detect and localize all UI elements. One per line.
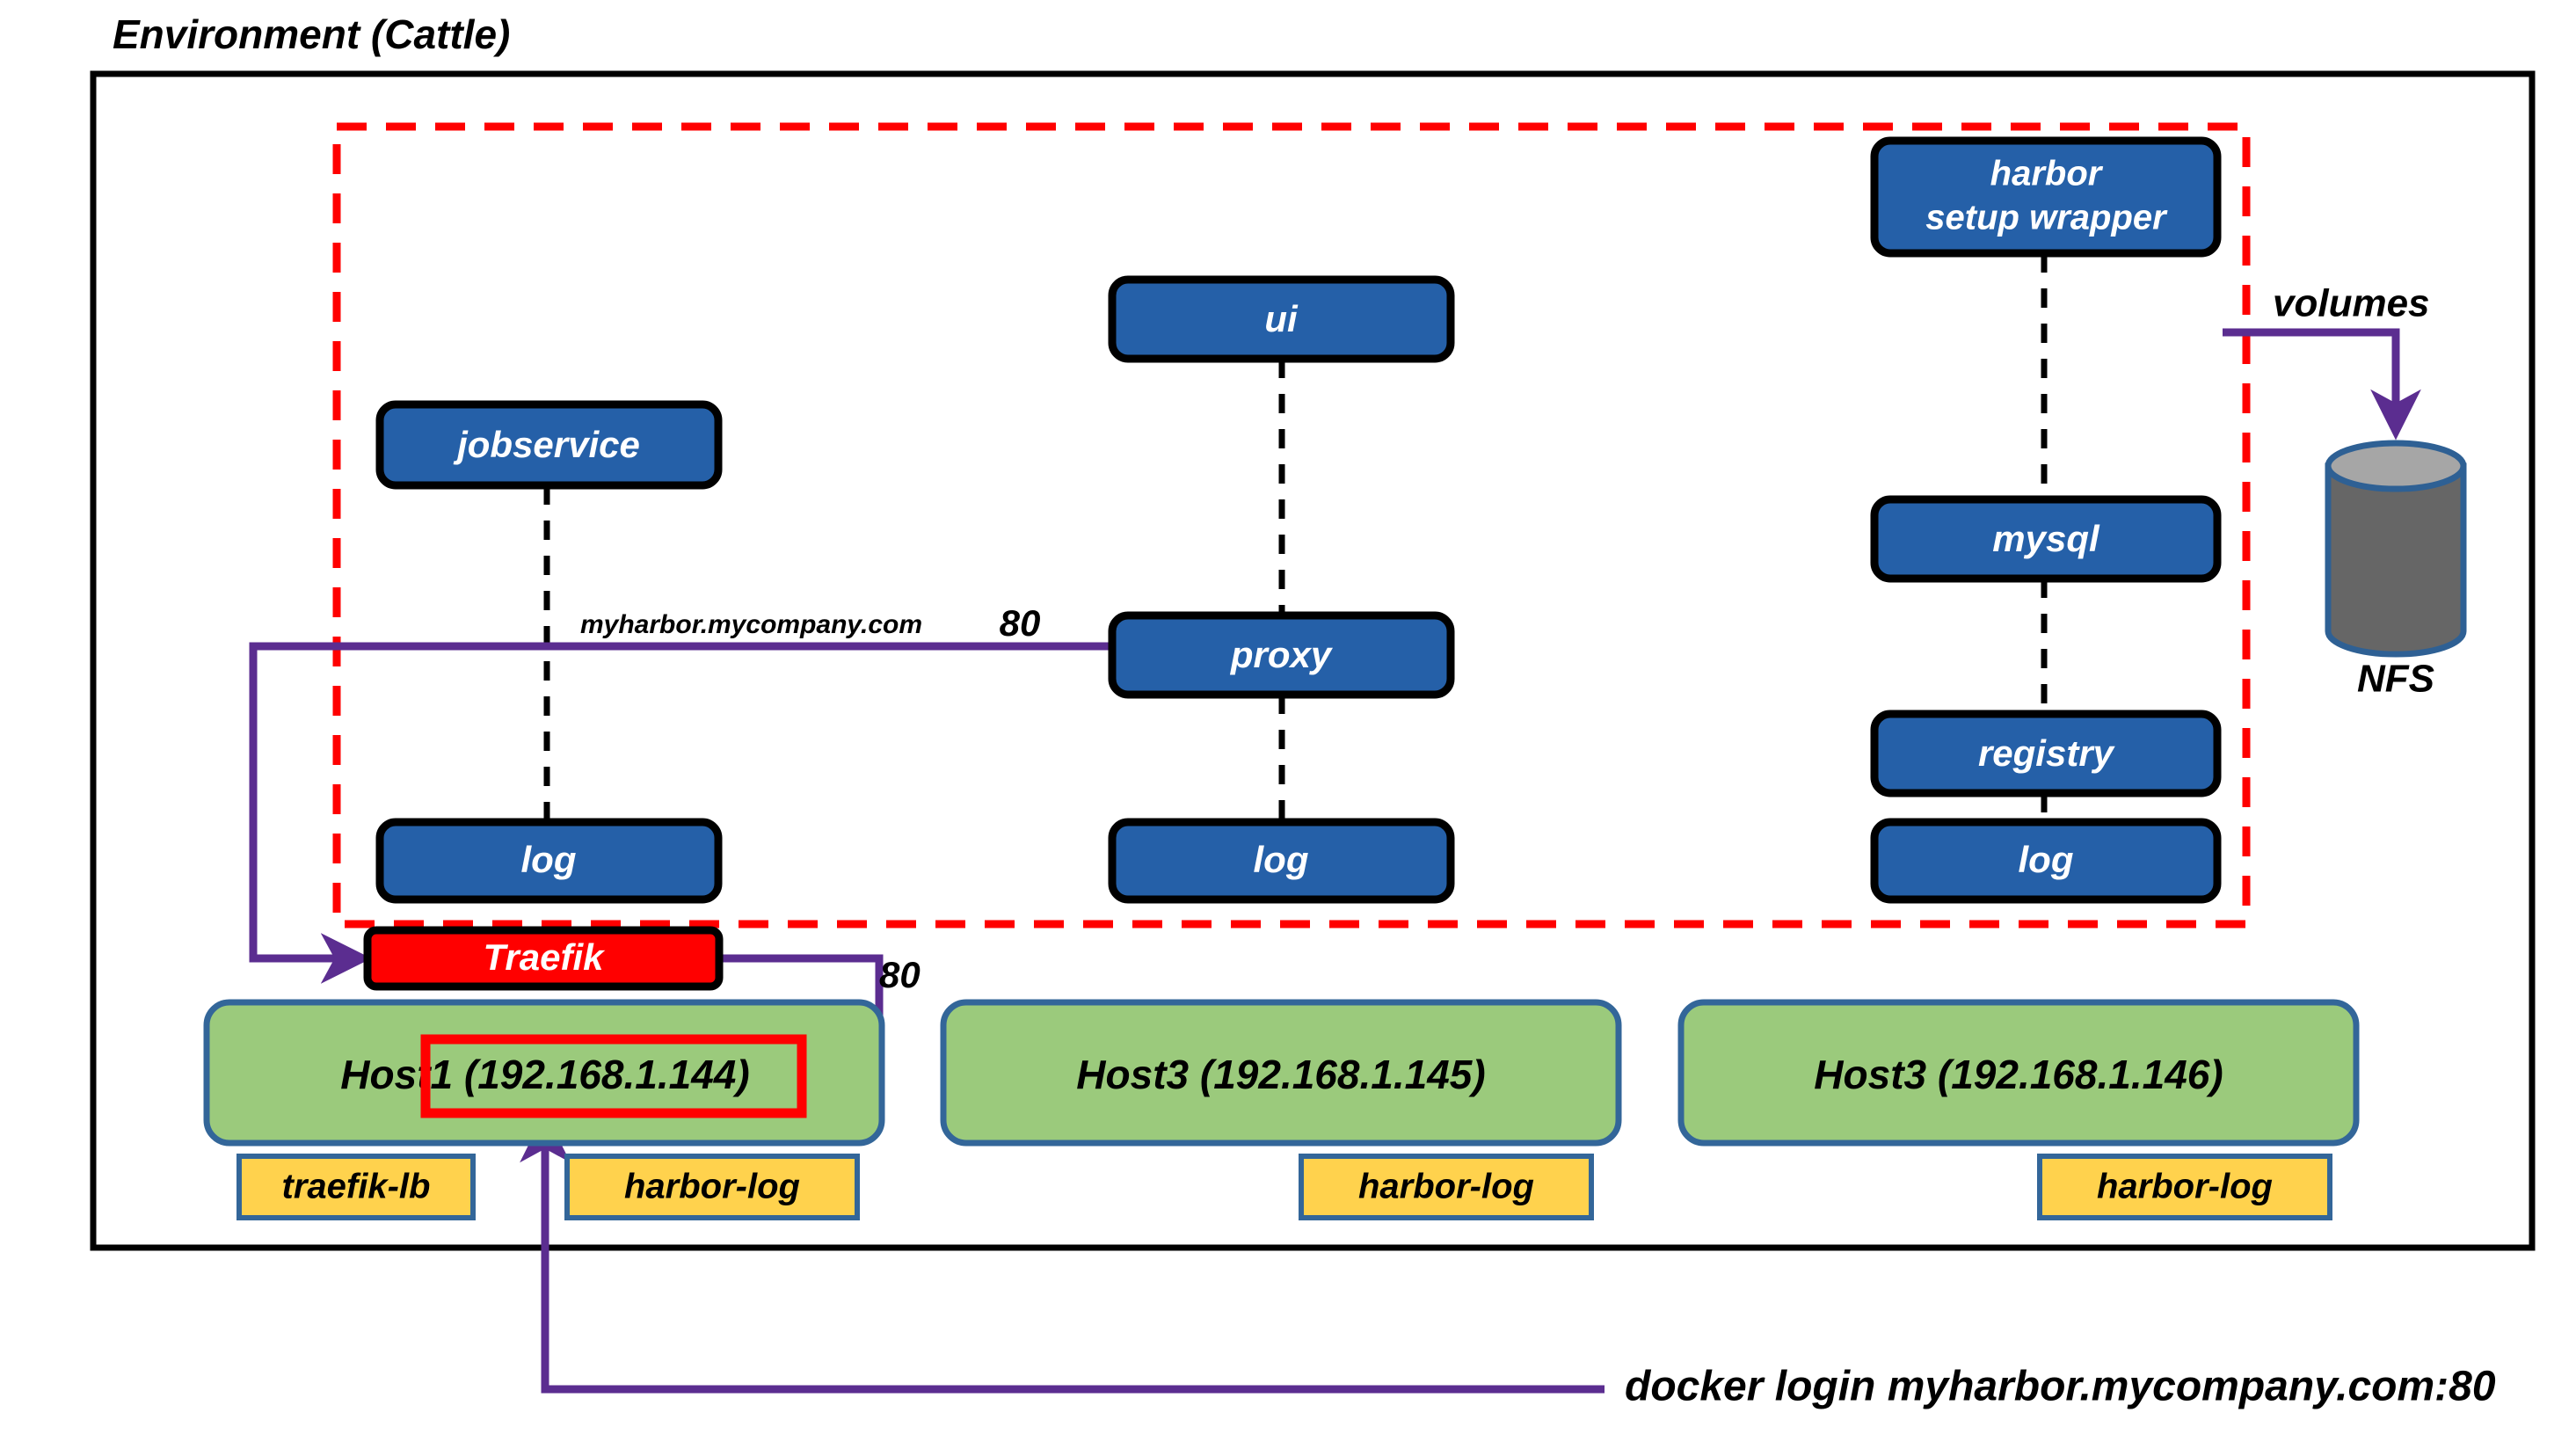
service-jobservice-label: jobservice — [453, 424, 640, 465]
docker-login-command: docker login myharbor.mycompany.com:80 — [1625, 1364, 2496, 1410]
host2-label: Host3 (192.168.1.145) — [1076, 1052, 1485, 1097]
service-proxy-log[interactable]: log — [1112, 822, 1451, 899]
service-proxy-log-label: log — [1254, 839, 1309, 880]
host2-tag-harbor-log[interactable]: harbor-log — [1301, 1156, 1591, 1218]
nfs-storage-icon — [2328, 443, 2463, 654]
host1-tag-traefik-lb-label: traefik-lb — [282, 1168, 431, 1206]
host1-tag-harbor-log[interactable]: harbor-log — [567, 1156, 857, 1218]
host1-tag-harbor-log-label: harbor-log — [624, 1168, 800, 1206]
host-card-host1[interactable]: Host1 (192.168.1.144) — [207, 1002, 882, 1143]
service-harbor-setup-wrapper-label-line1: harbor — [1990, 155, 2104, 193]
architecture-diagram: Environment (Cattle) jobservice log ui p… — [0, 0, 2576, 1449]
service-mysql-label: mysql — [1992, 518, 2100, 559]
service-registry-label: registry — [1978, 732, 2116, 774]
host-card-host2[interactable]: Host3 (192.168.1.145) — [943, 1002, 1619, 1143]
host2-tag-harbor-log-label: harbor-log — [1358, 1168, 1534, 1206]
traefik-container[interactable]: Traefik — [367, 930, 719, 987]
host-port-label: 80 — [879, 954, 921, 995]
volumes-label: volumes — [2273, 282, 2430, 325]
nfs-cylinder-body — [2328, 466, 2463, 654]
host1-tag-traefik-lb[interactable]: traefik-lb — [239, 1156, 473, 1218]
environment-title: Environment (Cattle) — [113, 11, 510, 57]
host3-tag-harbor-log-label: harbor-log — [2097, 1168, 2273, 1206]
nfs-cylinder-top — [2328, 443, 2463, 489]
service-proxy[interactable]: proxy — [1112, 615, 1451, 695]
service-ui[interactable]: ui — [1112, 280, 1451, 359]
service-mysql[interactable]: mysql — [1874, 499, 2217, 579]
diagram-canvas: Environment (Cattle) jobservice log ui p… — [0, 0, 2576, 1449]
hostname-route-label: myharbor.mycompany.com — [580, 610, 922, 639]
route-proxy-to-traefik — [253, 646, 1112, 958]
host3-label: Host3 (192.168.1.146) — [1814, 1052, 2223, 1097]
service-harbor-setup-wrapper[interactable]: harbor setup wrapper — [1874, 141, 2217, 253]
service-ui-label: ui — [1264, 298, 1299, 339]
service-jobservice-log-label: log — [521, 839, 577, 880]
host3-tag-harbor-log[interactable]: harbor-log — [2040, 1156, 2330, 1218]
service-jobservice-log[interactable]: log — [380, 822, 718, 899]
service-harbor-setup-wrapper-label-line2: setup wrapper — [1925, 199, 2168, 237]
proxy-port-label: 80 — [1000, 602, 1041, 644]
service-registry-log-label: log — [2019, 839, 2074, 880]
nfs-label: NFS — [2357, 658, 2434, 701]
service-registry-log[interactable]: log — [1874, 822, 2217, 899]
traefik-label: Traefik — [484, 936, 607, 978]
service-registry[interactable]: registry — [1874, 714, 2217, 793]
host1-label: Host1 (192.168.1.144) — [340, 1052, 749, 1097]
service-proxy-label: proxy — [1230, 634, 1334, 675]
service-jobservice[interactable]: jobservice — [380, 404, 718, 485]
host-card-host3[interactable]: Host3 (192.168.1.146) — [1681, 1002, 2356, 1143]
